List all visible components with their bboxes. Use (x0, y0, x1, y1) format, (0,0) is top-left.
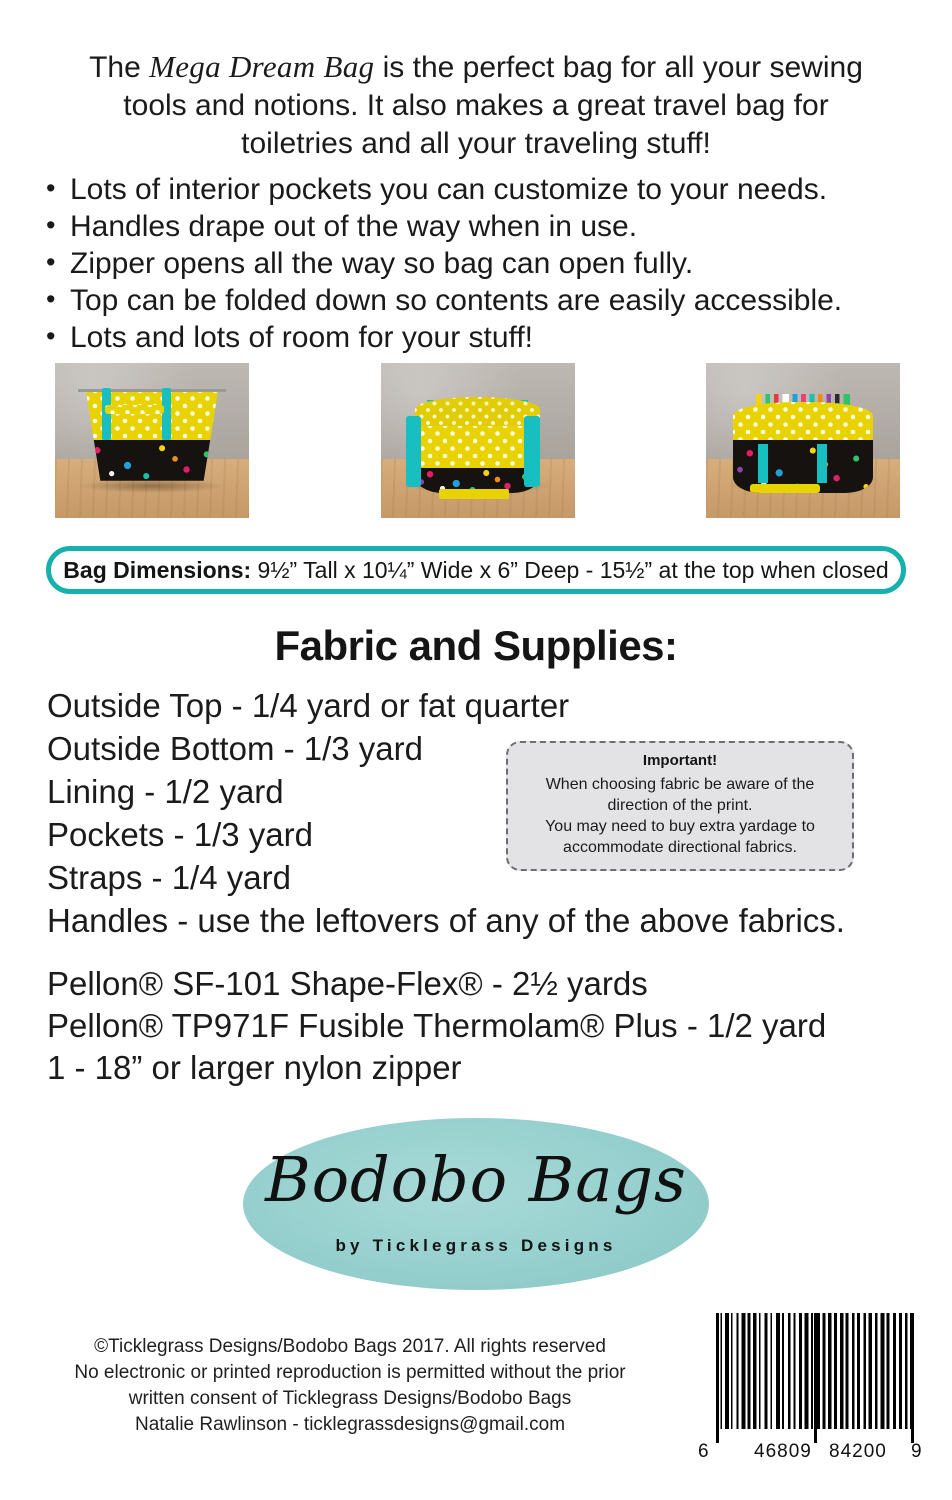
contact-email-line: Natalie Rawlinson - ticklegrassdesigns@g… (30, 1412, 670, 1438)
bag-lining-fabric (415, 397, 539, 430)
list-item: Outside Top - 1/4 yard or fat quarter (47, 684, 927, 727)
list-item: Handles - use the leftovers of any of th… (47, 899, 927, 942)
product-name: Mega Dream Bag (149, 49, 374, 84)
bag-dimensions-label: Bag Dimensions: (63, 557, 251, 583)
feature-list: Lots of interior pockets you can customi… (44, 172, 924, 357)
barcode-group-1: 46809 (754, 1441, 812, 1463)
barcode-group-2: 84200 (829, 1441, 887, 1463)
bag-handle-left (758, 444, 768, 484)
upc-barcode: 6 46809 84200 9 (698, 1313, 930, 1463)
list-item: Lots of interior pockets you can customi… (44, 172, 924, 207)
bag-bottom-fabric (80, 440, 224, 480)
barcode-digit-right: 9 (911, 1441, 922, 1463)
bag-folded-cuff (733, 402, 873, 442)
bag-dimensions-value: 9½” Tall x 10¼” Wide x 6” Deep - 15½” at… (251, 557, 889, 583)
list-item: Handles drape out of the way when in use… (44, 209, 924, 244)
list-item: Pellon® SF-101 Shape-Flex® - 2½ yards (47, 963, 927, 1005)
product-photo-closed-bag (55, 363, 249, 518)
photo-shadow (78, 479, 225, 493)
barcode-guard-right (911, 1313, 914, 1443)
copyright-line: No electronic or printed reproduction is… (30, 1360, 670, 1386)
list-item: Lots and lots of room for your stuff! (44, 320, 924, 355)
barcode-guard-left (716, 1313, 719, 1443)
bag-dimensions-bar: Bag Dimensions: 9½” Tall x 10¼” Wide x 6… (46, 546, 906, 594)
logo-tagline: by Ticklegrass Designs (243, 1236, 709, 1256)
supplies-list: Pellon® SF-101 Shape-Flex® - 2½ yards Pe… (47, 963, 927, 1089)
barcode-digit-left: 6 (698, 1441, 709, 1463)
bag-handle-left (102, 388, 112, 441)
important-line: When choosing fabric be aware of the (522, 774, 838, 795)
bag-body (733, 394, 873, 493)
logo-brand-name: Bodobo Bags (243, 1144, 709, 1216)
intro-paragraph: The Mega Dream Bag is the perfect bag fo… (70, 48, 882, 163)
product-photo-row (55, 363, 900, 518)
important-line: direction of the print. (522, 795, 838, 816)
bag-handle-right (524, 416, 540, 487)
copyright-block: ©Ticklegrass Designs/Bodobo Bags 2017. A… (30, 1334, 670, 1438)
page-title: Fabric and Supplies: (0, 622, 952, 670)
product-photo-folded-bag (706, 363, 900, 518)
list-item: Pellon® TP971F Fusible Thermolam® Plus -… (47, 1005, 927, 1047)
list-item: 1 - 18” or larger nylon zipper (47, 1047, 927, 1089)
bag-front-tab (439, 489, 509, 500)
bag-top-fabric (415, 426, 539, 468)
bag-body (415, 397, 539, 493)
list-item: Zipper opens all the way so bag can open… (44, 246, 924, 281)
intro-text-before: The (89, 51, 149, 84)
bag-bottom-trim (750, 484, 820, 493)
product-photo-open-bag (381, 363, 575, 518)
barcode-guard-center (814, 1313, 817, 1443)
important-title: Important! (522, 752, 838, 769)
bag-handle-drape (105, 405, 163, 414)
barcode-digits: 6 46809 84200 9 (698, 1441, 930, 1463)
bag-handle-right (817, 444, 827, 484)
important-line: You may need to buy extra yardage to (522, 816, 838, 837)
copyright-line: ©Ticklegrass Designs/Bodobo Bags 2017. A… (30, 1334, 670, 1360)
bag-handle-left (406, 416, 422, 487)
bag-handle-right (162, 388, 172, 441)
copyright-line: written consent of Ticklegrass Designs/B… (30, 1386, 670, 1412)
bag-dimensions-text: Bag Dimensions: 9½” Tall x 10¼” Wide x 6… (63, 557, 888, 584)
important-line: accommodate directional fabrics. (522, 837, 838, 858)
bag-zipper (78, 389, 225, 392)
list-item: Top can be folded down so contents are e… (44, 283, 924, 318)
important-callout-box: Important! When choosing fabric be aware… (506, 741, 854, 871)
brand-logo: Bodobo Bags by Ticklegrass Designs (243, 1118, 709, 1290)
